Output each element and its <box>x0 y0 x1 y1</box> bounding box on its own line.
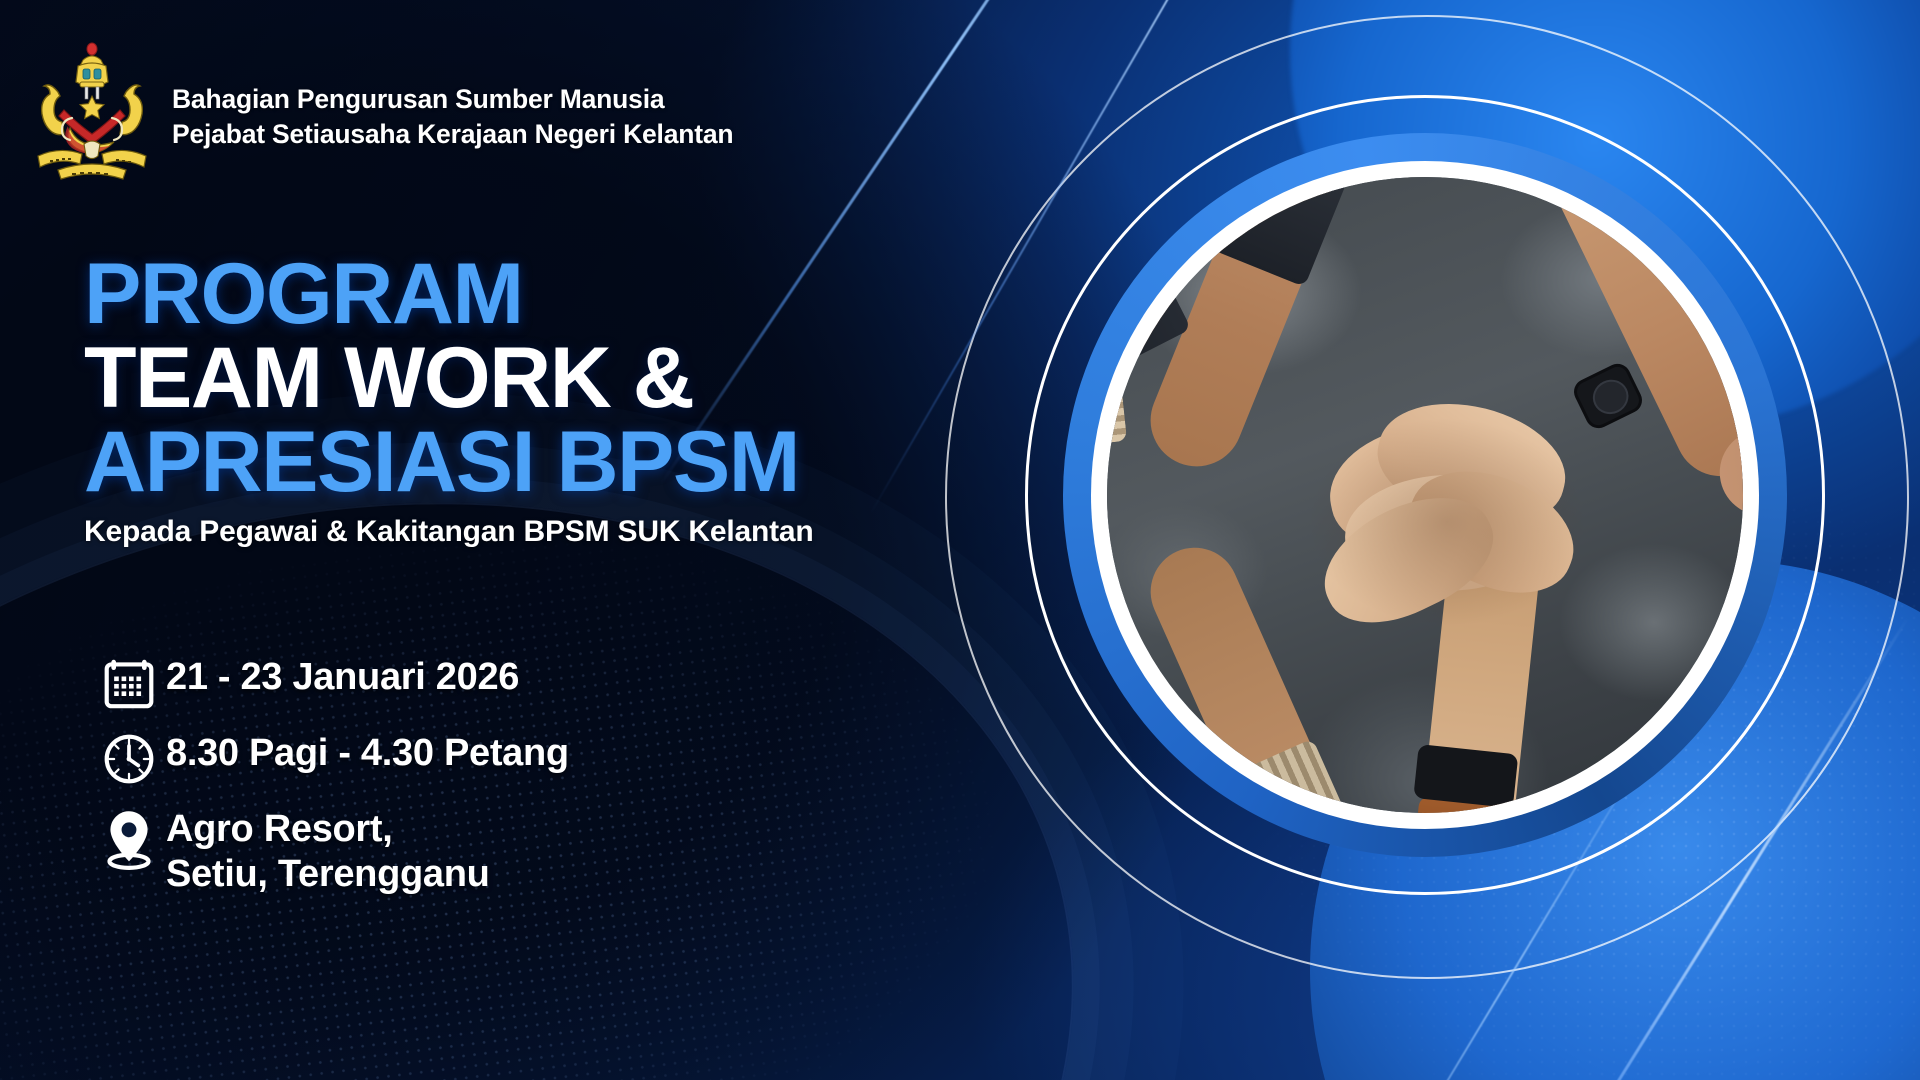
title-subtitle: Kepada Pegawai & Kakitangan BPSM SUK Kel… <box>84 515 1064 549</box>
detail-time-line1: 8.30 Pagi - 4.30 Petang <box>166 732 569 774</box>
team-hands-photo <box>1107 177 1743 813</box>
title-line-teamwork: TEAM WORK & <box>84 339 1064 419</box>
wrist-band <box>1413 744 1518 808</box>
detail-date-line1: 21 - 23 Januari 2026 <box>166 656 519 698</box>
event-details: 21 - 23 Januari 2026 <box>92 655 972 919</box>
location-pin-icon <box>92 807 166 871</box>
detail-text-time: 8.30 Pagi - 4.30 Petang <box>166 731 569 776</box>
title-line-apresiasi: APRESIASI BPSM <box>84 423 1064 503</box>
detail-row-date: 21 - 23 Januari 2026 <box>92 655 972 709</box>
event-poster: Bahagian Pengurusan Sumber Manusia Pejab… <box>0 0 1920 1080</box>
calendar-icon <box>92 655 166 709</box>
photo-medallion <box>1025 95 1825 895</box>
detail-text-date: 21 - 23 Januari 2026 <box>166 655 519 700</box>
clock-icon <box>92 731 166 785</box>
kelantan-state-crest-icon <box>28 40 156 180</box>
title-line-program: PROGRAM <box>84 255 1064 335</box>
detail-text-venue: Agro Resort, Setiu, Terengganu <box>166 807 490 897</box>
org-line-2: Pejabat Setiausaha Kerajaan Negeri Kelan… <box>172 117 1072 152</box>
poster-title-block: PROGRAM TEAM WORK & APRESIASI BPSM Kepad… <box>84 255 1064 549</box>
detail-row-time: 8.30 Pagi - 4.30 Petang <box>92 731 972 785</box>
detail-venue-line1: Agro Resort, <box>166 807 490 852</box>
detail-row-venue: Agro Resort, Setiu, Terengganu <box>92 807 972 897</box>
hand-pile-shadow <box>1307 417 1587 627</box>
org-line-1: Bahagian Pengurusan Sumber Manusia <box>172 82 1072 117</box>
detail-venue-line2: Setiu, Terengganu <box>166 852 490 897</box>
organisation-name: Bahagian Pengurusan Sumber Manusia Pejab… <box>172 82 1072 152</box>
